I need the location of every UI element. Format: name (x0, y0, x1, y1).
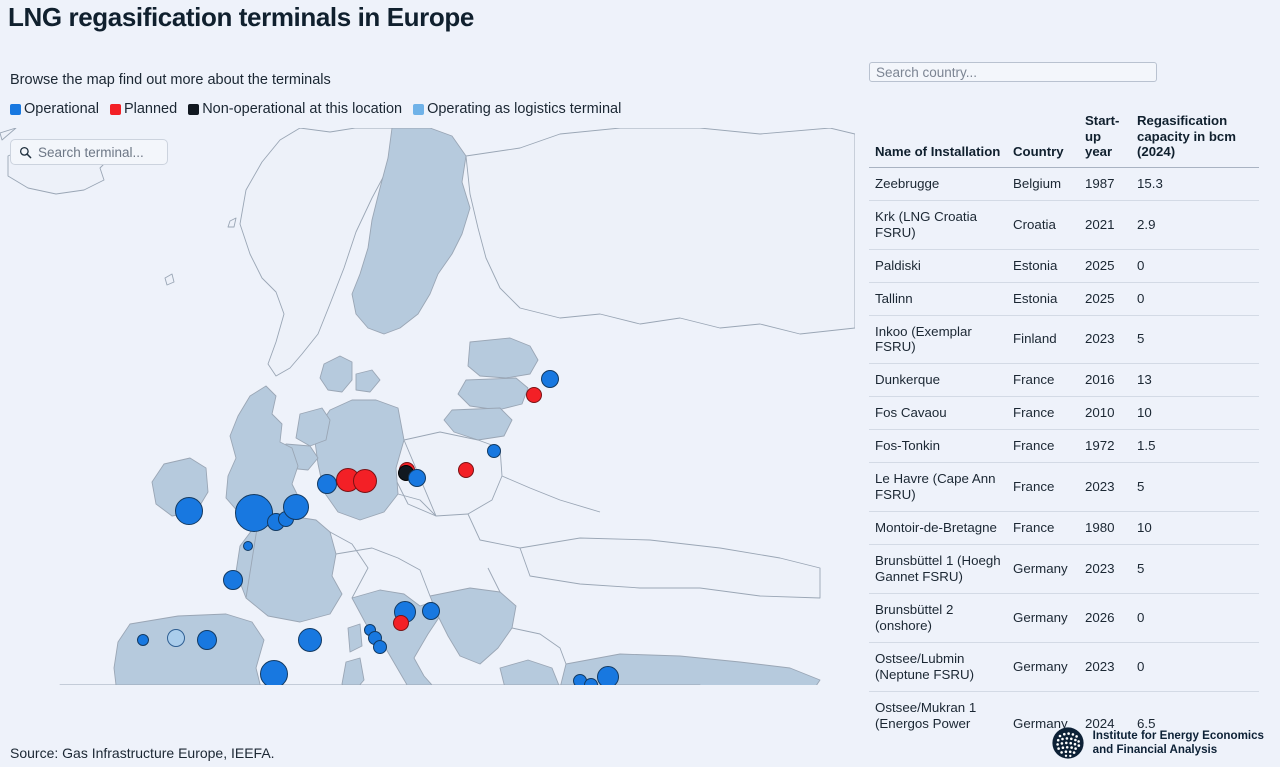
map-legend: Operational Planned Non-operational at t… (10, 101, 632, 117)
search-terminal-input[interactable]: Search terminal... (10, 139, 168, 165)
terminal-country: Belgium (1007, 167, 1079, 200)
terminal-startup-year: 2023 (1079, 315, 1131, 364)
terminal-startup-year: 2016 (1079, 364, 1131, 397)
logo-line-1: Institute for Energy Economics (1093, 729, 1264, 743)
legend-item-logistics[interactable]: Operating as logistics terminal (413, 101, 621, 117)
terminal-country: France (1007, 397, 1079, 430)
map-marker-planned[interactable] (393, 615, 409, 631)
legend-label: Operational (24, 101, 99, 117)
terminal-country: Germany (1007, 594, 1079, 643)
map-marker-operational[interactable] (260, 660, 288, 685)
terminal-capacity: 5 (1131, 545, 1259, 594)
logo-text: Institute for Energy Economics and Finan… (1093, 729, 1264, 756)
map-marker-operational[interactable] (197, 630, 217, 650)
map-marker-operational[interactable] (175, 497, 203, 525)
page-title: LNG regasification terminals in Europe (8, 2, 474, 33)
terminals-table-scroll[interactable]: Name of Installation Country Start-up ye… (869, 107, 1261, 732)
terminal-capacity: 10 (1131, 512, 1259, 545)
terminal-country: France (1007, 430, 1079, 463)
terminal-startup-year: 1980 (1079, 512, 1131, 545)
terminal-country: France (1007, 463, 1079, 512)
terminal-startup-year: 2023 (1079, 545, 1131, 594)
legend-label: Planned (124, 101, 177, 117)
terminal-capacity: 13 (1131, 364, 1259, 397)
legend-item-operational[interactable]: Operational (10, 101, 99, 117)
page-subtitle: Browse the map find out more about the t… (10, 72, 331, 88)
search-country-placeholder: Search country... (876, 65, 977, 80)
map-marker-planned[interactable] (353, 469, 377, 493)
column-header-country[interactable]: Country (1007, 107, 1079, 167)
terminal-startup-year: 1987 (1079, 167, 1131, 200)
map-marker-operational[interactable] (243, 541, 253, 551)
terminal-country: Finland (1007, 315, 1079, 364)
table-row[interactable]: Brunsbüttel 1 (Hoegh Gannet FSRU)Germany… (869, 545, 1259, 594)
logo-line-2: and Financial Analysis (1093, 743, 1264, 757)
terminal-startup-year: 2023 (1079, 463, 1131, 512)
terminal-startup-year: 2025 (1079, 282, 1131, 315)
map-marker-operational[interactable] (137, 634, 149, 646)
terminal-startup-year: 1972 (1079, 430, 1131, 463)
terminal-name: Montoir-de-Bretagne (869, 512, 1007, 545)
terminal-startup-year: 2023 (1079, 642, 1131, 691)
column-header-name[interactable]: Name of Installation (869, 107, 1007, 167)
terminal-country: France (1007, 512, 1079, 545)
terminal-country: Germany (1007, 545, 1079, 594)
europe-map[interactable] (0, 128, 855, 685)
map-marker-operational[interactable] (422, 602, 440, 620)
table-row[interactable]: PaldiskiEstonia20250 (869, 249, 1259, 282)
terminal-capacity: 2.9 (1131, 200, 1259, 249)
terminal-name: Brunsbüttel 2 (onshore) (869, 594, 1007, 643)
terminal-startup-year: 2010 (1079, 397, 1131, 430)
table-row[interactable]: Le Havre (Cape Ann FSRU)France20235 (869, 463, 1259, 512)
table-row[interactable]: Brunsbüttel 2 (onshore)Germany20260 (869, 594, 1259, 643)
square-swatch-icon (188, 104, 199, 115)
terminal-name: Ostsee/Lubmin (Neptune FSRU) (869, 642, 1007, 691)
ieefa-logo: Institute for Energy Economics and Finan… (1051, 726, 1264, 760)
map-marker-operational[interactable] (541, 370, 559, 388)
table-row[interactable]: Ostsee/Lubmin (Neptune FSRU)Germany20230 (869, 642, 1259, 691)
terminal-capacity: 0 (1131, 594, 1259, 643)
terminals-panel: Search country... Name of Installation C… (869, 62, 1261, 687)
terminal-name: Fos-Tonkin (869, 430, 1007, 463)
legend-label: Non-operational at this location (202, 101, 402, 117)
table-row[interactable]: Fos CavaouFrance201010 (869, 397, 1259, 430)
map-marker-operational[interactable] (373, 640, 387, 654)
terminal-name: Krk (LNG Croatia FSRU) (869, 200, 1007, 249)
terminal-capacity: 0 (1131, 642, 1259, 691)
legend-label: Operating as logistics terminal (427, 101, 621, 117)
table-row[interactable]: Krk (LNG Croatia FSRU)Croatia20212.9 (869, 200, 1259, 249)
search-country-input[interactable]: Search country... (869, 62, 1157, 82)
terminal-country: Croatia (1007, 200, 1079, 249)
column-header-startup-year[interactable]: Start-up year (1079, 107, 1131, 167)
terminal-capacity: 0 (1131, 249, 1259, 282)
table-row[interactable]: Fos-TonkinFrance19721.5 (869, 430, 1259, 463)
map-marker-planned[interactable] (526, 387, 542, 403)
table-body: ZeebruggeBelgium198715.3Krk (LNG Croatia… (869, 167, 1259, 732)
table-row[interactable]: Montoir-de-BretagneFrance198010 (869, 512, 1259, 545)
source-note: Source: Gas Infrastructure Europe, IEEFA… (10, 745, 275, 761)
square-swatch-icon (413, 104, 424, 115)
terminal-name: Inkoo (Exemplar FSRU) (869, 315, 1007, 364)
map-marker-operational[interactable] (317, 474, 337, 494)
square-swatch-icon (10, 104, 21, 115)
terminal-name: Paldiski (869, 249, 1007, 282)
map-marker-operational[interactable] (408, 469, 426, 487)
terminal-country: France (1007, 364, 1079, 397)
terminal-capacity: 1.5 (1131, 430, 1259, 463)
terminal-startup-year: 2025 (1079, 249, 1131, 282)
table-row[interactable]: ZeebruggeBelgium198715.3 (869, 167, 1259, 200)
map-marker-planned[interactable] (458, 462, 474, 478)
legend-item-planned[interactable]: Planned (110, 101, 177, 117)
map-marker-operational[interactable] (584, 678, 598, 685)
search-terminal-placeholder: Search terminal... (38, 145, 144, 160)
map-marker-operational[interactable] (487, 444, 501, 458)
terminal-name: Tallinn (869, 282, 1007, 315)
map-marker-logistics[interactable] (167, 629, 185, 647)
terminal-capacity: 15.3 (1131, 167, 1259, 200)
map-marker-operational[interactable] (597, 666, 619, 685)
terminal-name: Dunkerque (869, 364, 1007, 397)
search-icon (19, 146, 32, 159)
terminal-country: Estonia (1007, 249, 1079, 282)
table-header-row: Name of Installation Country Start-up ye… (869, 107, 1259, 167)
terminal-capacity: 5 (1131, 315, 1259, 364)
terminal-name: Le Havre (Cape Ann FSRU) (869, 463, 1007, 512)
terminal-capacity: 5 (1131, 463, 1259, 512)
terminal-capacity: 10 (1131, 397, 1259, 430)
terminal-country: Estonia (1007, 282, 1079, 315)
terminal-name: Brunsbüttel 1 (Hoegh Gannet FSRU) (869, 545, 1007, 594)
table-row[interactable]: Inkoo (Exemplar FSRU)Finland20235 (869, 315, 1259, 364)
globe-icon (1051, 726, 1085, 760)
table-row[interactable]: TallinnEstonia20250 (869, 282, 1259, 315)
terminal-startup-year: 2026 (1079, 594, 1131, 643)
terminal-capacity: 0 (1131, 282, 1259, 315)
legend-item-non-operational[interactable]: Non-operational at this location (188, 101, 402, 117)
column-header-capacity[interactable]: Regasification capacity in bcm (2024) (1131, 107, 1259, 167)
terminal-name: Zeebrugge (869, 167, 1007, 200)
terminal-country: Germany (1007, 642, 1079, 691)
square-swatch-icon (110, 104, 121, 115)
terminals-table: Name of Installation Country Start-up ye… (869, 107, 1259, 732)
map-marker-operational[interactable] (283, 494, 309, 520)
terminal-name: Fos Cavaou (869, 397, 1007, 430)
terminal-startup-year: 2021 (1079, 200, 1131, 249)
map-marker-operational[interactable] (223, 570, 243, 590)
terminal-name: Ostsee/Mukran 1 (Energos Power FSRU) (869, 691, 1007, 732)
table-row[interactable]: DunkerqueFrance201613 (869, 364, 1259, 397)
map-marker-operational[interactable] (298, 628, 322, 652)
